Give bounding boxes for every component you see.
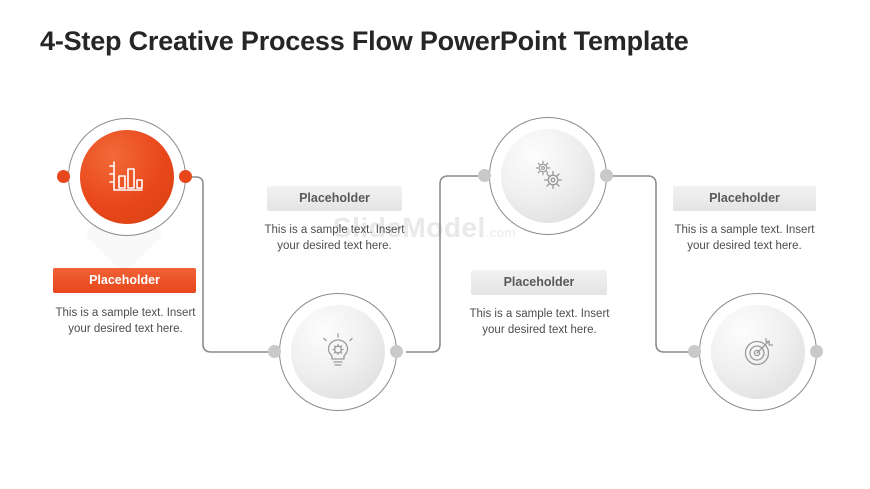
step-3-label[interactable]: Placeholder (471, 270, 607, 295)
target-dart-icon (736, 330, 780, 374)
lightbulb-gear-icon (316, 330, 360, 374)
step-3-dot-left (478, 169, 491, 182)
step-2-dot-left (268, 345, 281, 358)
step-1-dot-left (57, 170, 70, 183)
step-2-dot-right (390, 345, 403, 358)
step-4-icon-circle (711, 305, 805, 399)
step-1-dot-right (179, 170, 192, 183)
step-3-body: This is a sample text. Insert your desir… (462, 306, 617, 338)
bar-chart-icon (104, 154, 150, 200)
step-4-node[interactable] (699, 293, 817, 411)
step-4-dot-left (688, 345, 701, 358)
step-2-body: This is a sample text. Insert your desir… (257, 222, 412, 254)
step-2-label[interactable]: Placeholder (267, 186, 402, 211)
step-1-body: This is a sample text. Insert your desir… (48, 305, 203, 337)
step-1-icon-circle (80, 130, 174, 224)
step-3-icon-circle (501, 129, 595, 223)
step-2-icon-circle (291, 305, 385, 399)
step-3-node[interactable] (489, 117, 607, 235)
slide-canvas: 4-Step Creative Process Flow PowerPoint … (0, 0, 870, 489)
step-3-dot-right (600, 169, 613, 182)
step-4-body: This is a sample text. Insert your desir… (667, 222, 822, 254)
step-2-node[interactable] (279, 293, 397, 411)
step-4-label[interactable]: Placeholder (673, 186, 816, 211)
gears-icon (526, 154, 570, 198)
step-4-dot-right (810, 345, 823, 358)
step-1-label[interactable]: Placeholder (53, 268, 196, 293)
step-1-node[interactable] (68, 118, 186, 236)
